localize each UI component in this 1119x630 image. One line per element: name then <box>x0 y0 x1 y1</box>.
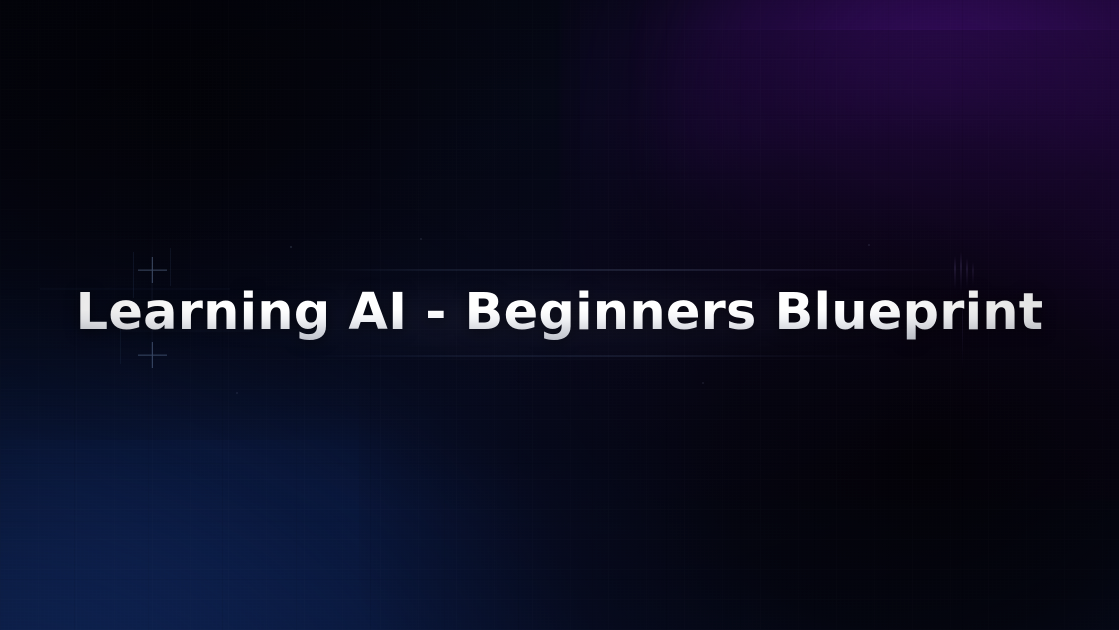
presentation-title-slide: Learning AI - Beginners Blueprint <box>0 0 1119 630</box>
page-title: Learning AI - Beginners Blueprint <box>76 285 1044 342</box>
title-container: Learning AI - Beginners Blueprint <box>0 0 1119 630</box>
